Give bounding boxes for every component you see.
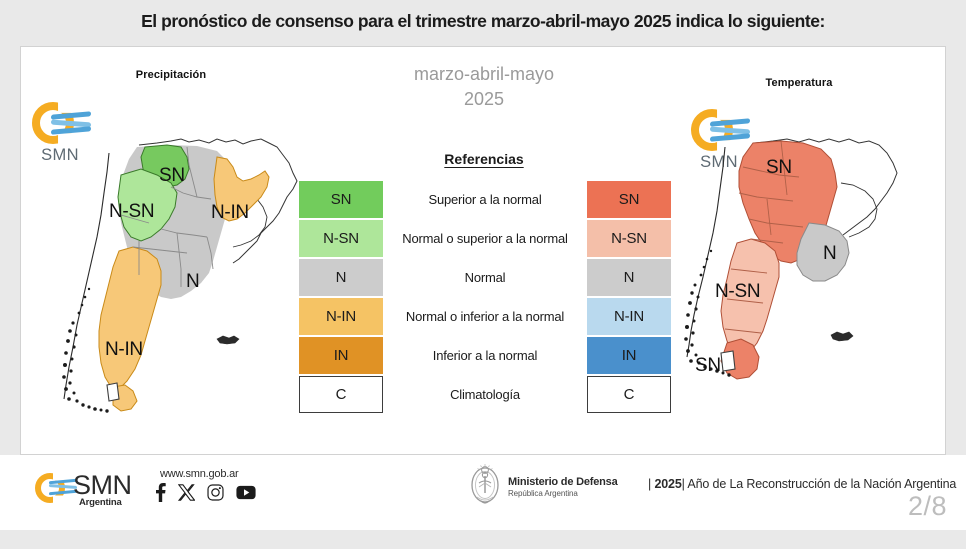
website-url[interactable]: www.smn.gob.ar: [160, 468, 239, 480]
legend-description-n-in: Normal o inferior a la normal: [383, 298, 587, 335]
youtube-icon[interactable]: [236, 485, 256, 500]
references-heading: Referencias: [301, 151, 667, 167]
legend-row: IN Inferior a la normal IN: [299, 337, 671, 374]
forecast-period-line2: 2025: [301, 87, 667, 112]
legend-description-n: Normal: [383, 259, 587, 296]
temperature-label-n-sn: N-SN: [715, 281, 760, 303]
slide-card: Precipitación SMN: [20, 46, 946, 455]
legend-row: N-SN Normal o superior a la normal N-SN: [299, 220, 671, 257]
year-prefix: |: [648, 477, 651, 491]
legend-row: N Normal N: [299, 259, 671, 296]
legend-column: marzo-abril-mayo 2025 Referencias SN Sup…: [301, 47, 667, 455]
precipitation-label-sn-north: SN: [159, 165, 185, 187]
legend-description-c: Climatología: [383, 376, 587, 413]
smn-footer-subtitle: Argentina: [79, 497, 122, 508]
page-indicator: 2/8: [908, 491, 947, 522]
ministry-badge: Ministerio de Defensa República Argentin…: [468, 463, 658, 511]
legend-swatch-precip-n-in: N-IN: [299, 298, 383, 335]
year-suffix: |: [682, 477, 685, 491]
precipitation-label-n-in-south: N-IN: [105, 339, 143, 361]
legend-swatch-precip-n-sn: N-SN: [299, 220, 383, 257]
legend-row: C Climatología C: [299, 376, 671, 413]
legend-row: SN Superior a la normal SN: [299, 181, 671, 218]
temperature-label-sn-south: SN: [695, 355, 721, 377]
legend-swatch-precip-c: C: [299, 376, 383, 413]
facebook-icon[interactable]: [155, 483, 166, 502]
temperature-label-n: N: [823, 243, 836, 265]
legend-swatch-precip-in: IN: [299, 337, 383, 374]
precipitation-label-n: N: [186, 271, 199, 293]
social-links: [155, 483, 256, 502]
year-value: 2025: [654, 477, 681, 491]
smn-footer-logo: SMN Argentina: [35, 467, 165, 509]
temperature-map-panel: Temperatura SMN: [651, 47, 946, 455]
legend-description-in: Inferior a la normal: [383, 337, 587, 374]
bottom-strip: [0, 530, 966, 549]
x-twitter-icon[interactable]: [178, 484, 195, 501]
forecast-period-line1: marzo-abril-mayo: [301, 62, 667, 87]
argentina-coat-of-arms-icon: [468, 463, 502, 509]
precipitation-label-n-in-north: N-IN: [211, 202, 249, 224]
year-slogan: | 2025| Año de La Reconstrucción de la N…: [648, 477, 956, 491]
precipitation-label-n-sn: N-SN: [109, 201, 154, 223]
slide-footer: SMN Argentina www.smn.gob.ar: [0, 455, 966, 530]
slogan-text: Año de La Reconstrucción de la Nación Ar…: [687, 477, 956, 491]
precipitation-map-graphic: [21, 47, 321, 455]
ministry-subtitle: República Argentina: [508, 489, 578, 498]
forecast-period: marzo-abril-mayo 2025: [301, 62, 667, 112]
legend-description-n-sn: Normal o superior a la normal: [383, 220, 587, 257]
temperature-label-sn-north: SN: [766, 157, 792, 179]
page-title: El pronóstico de consenso para el trimes…: [0, 11, 966, 32]
precipitation-map-panel: Precipitación SMN: [21, 47, 321, 455]
temperature-map-graphic: [651, 47, 946, 455]
legend-swatch-precip-sn: SN: [299, 181, 383, 218]
legend-row: N-IN Normal o inferior a la normal N-IN: [299, 298, 671, 335]
ministry-title: Ministerio de Defensa: [508, 476, 618, 488]
legend-description-sn: Superior a la normal: [383, 181, 587, 218]
references-legend: SN Superior a la normal SN N-SN Normal o…: [299, 181, 671, 415]
instagram-icon[interactable]: [207, 484, 224, 501]
legend-swatch-precip-n: N: [299, 259, 383, 296]
